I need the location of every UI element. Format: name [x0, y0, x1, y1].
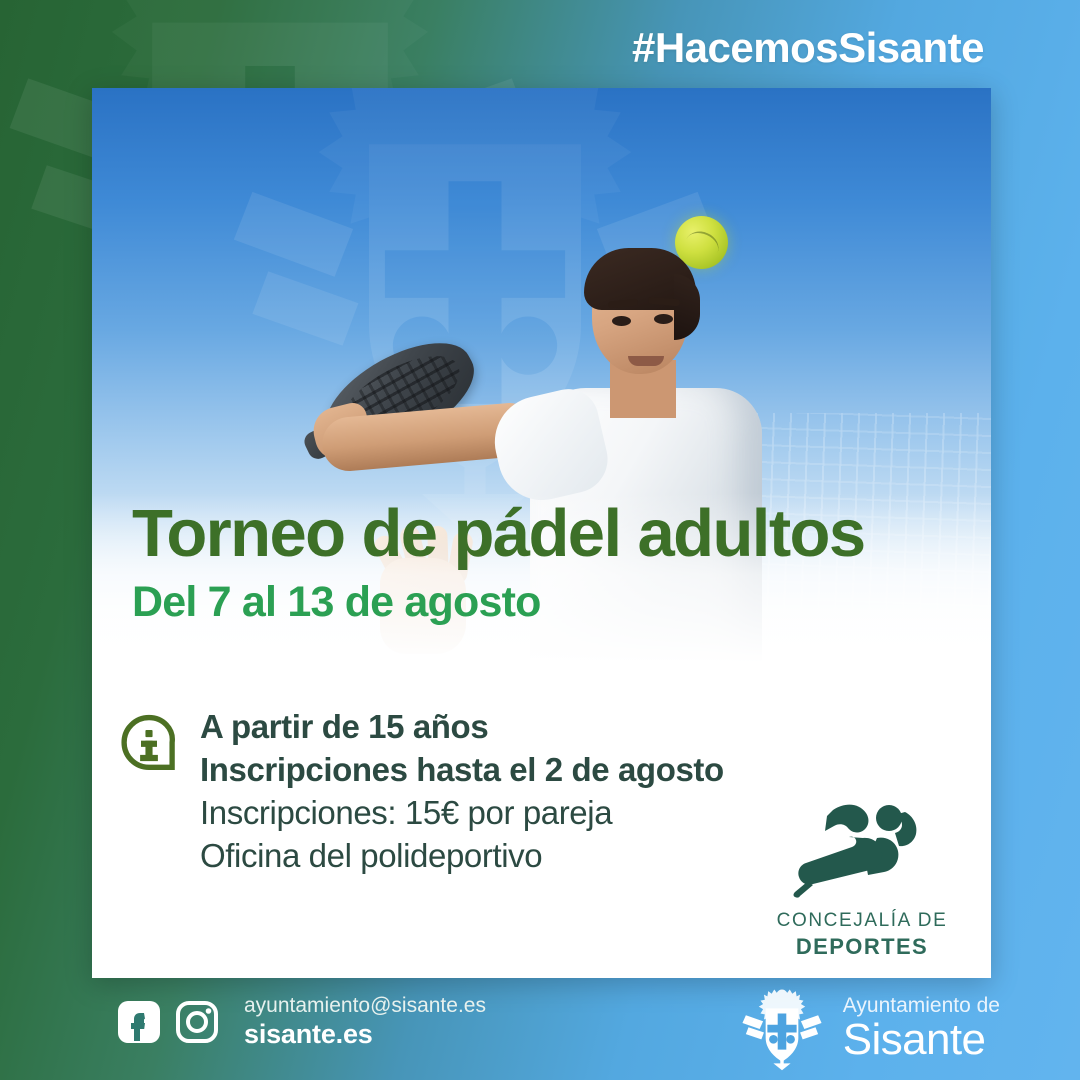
website-text[interactable]: sisante.es — [244, 1019, 486, 1051]
instagram-icon[interactable] — [176, 1001, 218, 1043]
player-eye — [612, 316, 631, 326]
info-line: Inscripciones hasta el 2 de agosto — [200, 749, 724, 792]
player-mouth — [628, 356, 664, 366]
email-text[interactable]: ayuntamiento@sisante.es — [244, 993, 486, 1019]
org-line-2: Sisante — [843, 1017, 1000, 1064]
deportes-logo: CONCEJALÍA DE DEPORTES — [757, 794, 967, 960]
org-line-1: Ayuntamiento de — [843, 994, 1000, 1017]
event-dates: Del 7 al 13 de agosto — [132, 578, 972, 627]
deportes-line-2: DEPORTES — [757, 934, 967, 960]
poster-root: #HacemosSisante — [0, 0, 1080, 1080]
headline-block: Torneo de pádel adultos Del 7 al 13 de a… — [132, 500, 972, 627]
info-circle-icon — [120, 714, 178, 778]
event-title: Torneo de pádel adultos — [132, 500, 972, 568]
deportes-line-1: CONCEJALÍA DE — [757, 910, 967, 932]
running-athlete-icon — [777, 794, 947, 904]
footer-contact: ayuntamiento@sisante.es sisante.es — [118, 993, 486, 1051]
footer-organization: Ayuntamiento de Sisante — [739, 986, 1000, 1072]
info-line: Inscripciones: 15€ por pareja — [200, 792, 724, 835]
info-line: Oficina del polideportivo — [200, 835, 724, 878]
content-card: Torneo de pádel adultos Del 7 al 13 de a… — [92, 88, 991, 978]
hashtag-text: #HacemosSisante — [632, 24, 984, 72]
facebook-icon[interactable] — [118, 1001, 160, 1043]
info-block: A partir de 15 años Inscripciones hasta … — [120, 706, 724, 878]
info-line: A partir de 15 años — [200, 706, 724, 749]
player-eye — [654, 314, 673, 324]
contact-texts: ayuntamiento@sisante.es sisante.es — [244, 993, 486, 1051]
sisante-coat-of-arms-icon — [739, 986, 825, 1072]
info-lines: A partir de 15 años Inscripciones hasta … — [200, 706, 724, 878]
organization-texts: Ayuntamiento de Sisante — [843, 994, 1000, 1064]
